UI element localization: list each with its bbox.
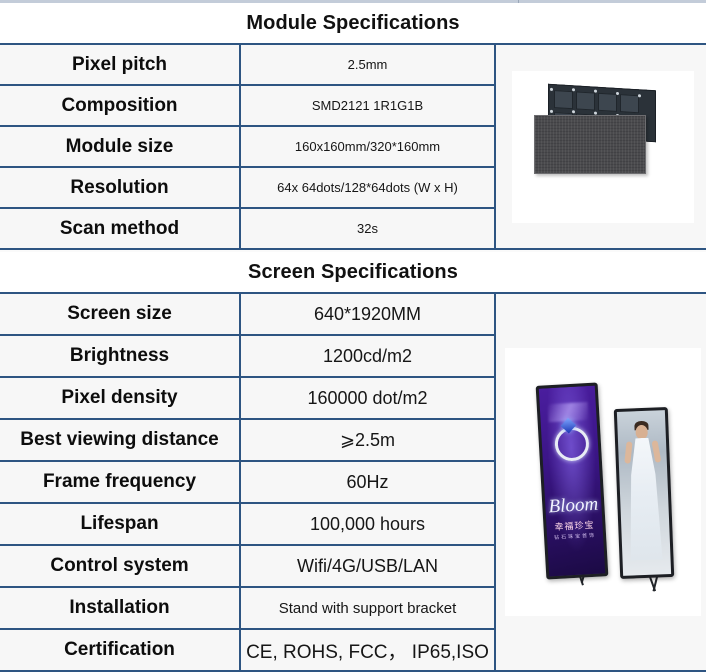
screen-row-value-brightness: 1200cd/m2	[240, 335, 495, 377]
module-specifications-title: Module Specifications	[0, 3, 706, 43]
screen-row-value-best-viewing-distance: ⩾2.5m	[240, 419, 495, 461]
screen-row-label-installation: Installation	[0, 587, 240, 629]
poster-photo-frame: Bloom 幸福珍宝 钻石珠宝首饰	[505, 348, 701, 616]
screen-row-label-brightness: Brightness	[0, 335, 240, 377]
poster-brand-text: Bloom	[545, 493, 602, 518]
screen-row-label-pixel-density: Pixel density	[0, 377, 240, 419]
poster-led-display-photo: Bloom 幸福珍宝 钻石珠宝首饰	[495, 293, 706, 671]
module-row-value-module-size: 160x160mm/320*160mm	[240, 126, 495, 167]
module-row-label-module-size: Module size	[0, 126, 240, 167]
poster-display-fashion-ad	[614, 407, 674, 579]
screen-specifications-title: Screen Specifications	[0, 252, 706, 292]
screen-row-label-frame-frequency: Frame frequency	[0, 461, 240, 503]
screen-row-label-best-viewing-distance: Best viewing distance	[0, 419, 240, 461]
ring-graphic	[554, 426, 590, 462]
module-row-value-resolution: 64x 64dots/128*64dots (W x H)	[240, 167, 495, 208]
screen-row-value-installation: Stand with support bracket	[240, 587, 495, 629]
led-module-front-face	[534, 115, 646, 174]
screen-row-label-certification: Certification	[0, 629, 240, 671]
screen-specifications-section: Screen Specifications Screen size 640*19…	[0, 252, 706, 672]
screen-row-value-frame-frequency: 60Hz	[240, 461, 495, 503]
module-specifications-section: Module Specifications Pixel pitch 2.5mm	[0, 3, 706, 250]
screen-row-label-lifespan: Lifespan	[0, 503, 240, 545]
module-specifications-table: Pixel pitch 2.5mm	[0, 43, 706, 250]
screen-row-label-screen-size: Screen size	[0, 293, 240, 335]
model-head-graphic	[635, 425, 648, 439]
table-row: Screen size 640*1920MM Bloom 幸福珍宝	[0, 293, 706, 335]
screen-row-value-pixel-density: 160000 dot/m2	[240, 377, 495, 419]
module-row-label-pixel-pitch: Pixel pitch	[0, 44, 240, 85]
led-module-photo-frame	[512, 71, 694, 223]
poster-display-jewelry-ad: Bloom 幸福珍宝 钻石珠宝首饰	[536, 382, 609, 579]
table-row: Pixel pitch 2.5mm	[0, 44, 706, 85]
module-row-value-composition: SMD2121 1R1G1B	[240, 85, 495, 126]
module-row-value-pixel-pitch: 2.5mm	[240, 44, 495, 85]
screen-row-value-control-system: Wifi/4G/USB/LAN	[240, 545, 495, 587]
led-module-photo	[495, 44, 706, 249]
module-row-label-scan-method: Scan method	[0, 208, 240, 249]
module-row-label-resolution: Resolution	[0, 167, 240, 208]
model-arm-graphic	[624, 441, 632, 463]
screen-row-label-control-system: Control system	[0, 545, 240, 587]
spec-sheet: Module Specifications Pixel pitch 2.5mm	[0, 0, 706, 660]
screen-row-value-lifespan: 100,000 hours	[240, 503, 495, 545]
screen-row-value-screen-size: 640*1920MM	[240, 293, 495, 335]
screen-specifications-table: Screen size 640*1920MM Bloom 幸福珍宝	[0, 292, 706, 672]
module-row-value-scan-method: 32s	[240, 208, 495, 249]
model-arm-graphic	[652, 440, 662, 463]
module-row-label-composition: Composition	[0, 85, 240, 126]
screen-row-value-certification: CE, ROHS, FCC， IP65,ISO	[240, 629, 495, 671]
